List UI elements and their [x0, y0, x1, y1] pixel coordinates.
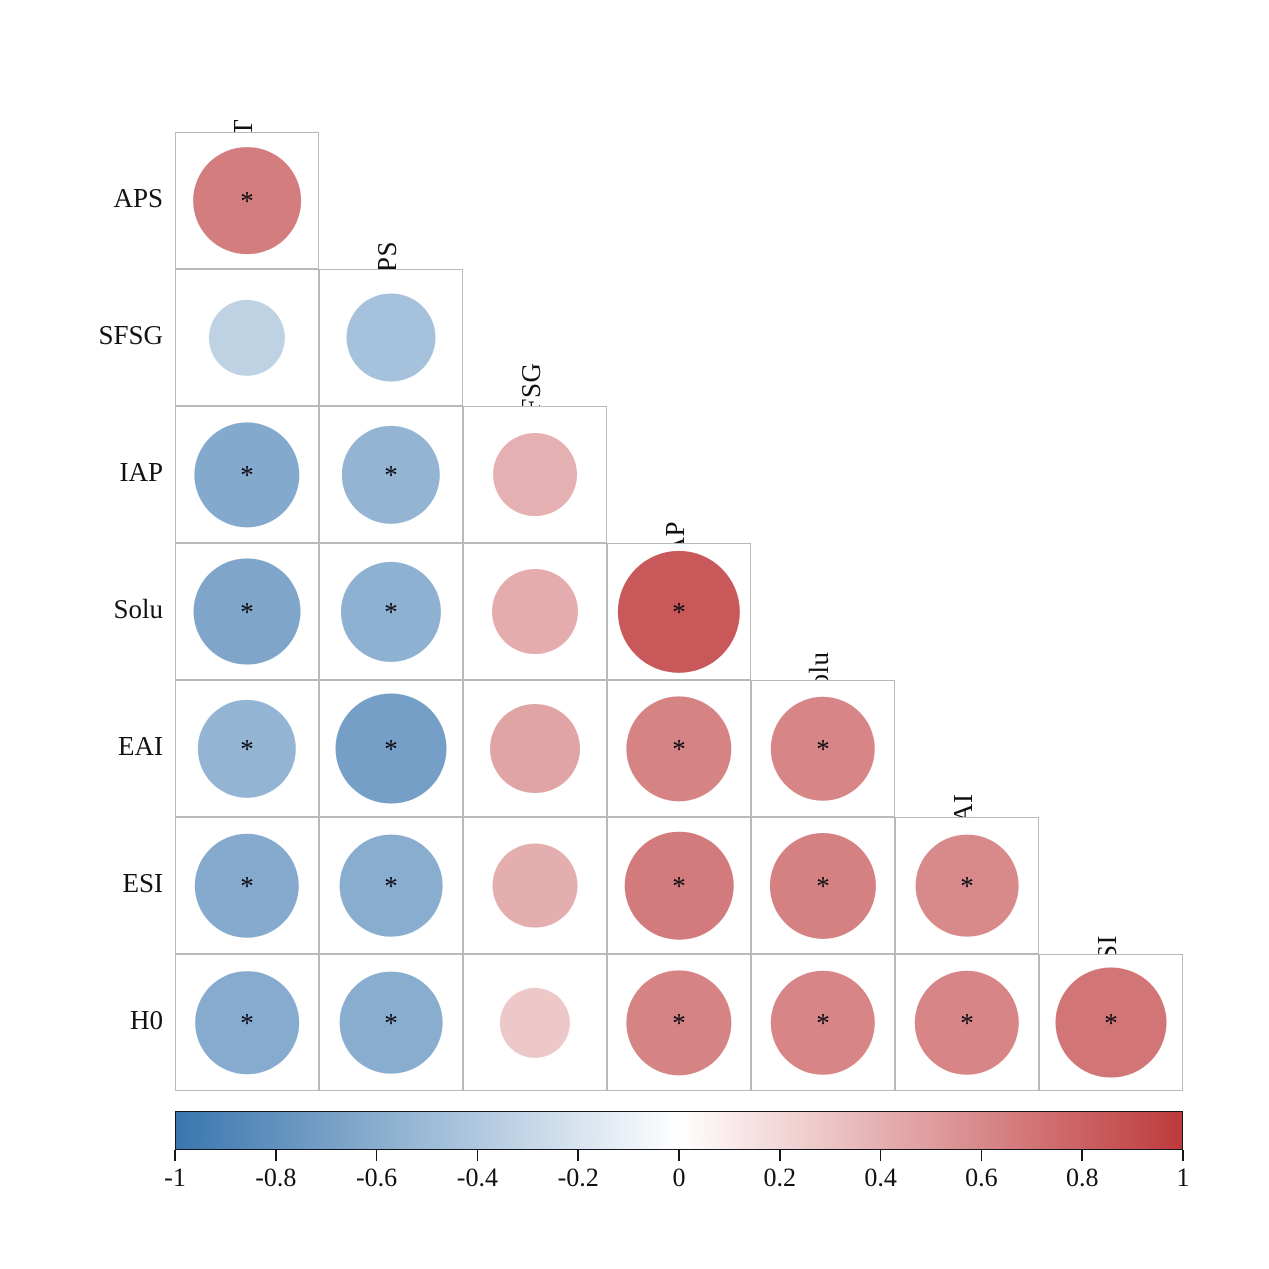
significance-star-icon: *: [240, 462, 254, 489]
colorbar-tick-label: 0.8: [1066, 1163, 1099, 1193]
colorbar-tick: [376, 1150, 378, 1161]
colorbar-tick-label: -0.8: [255, 1163, 296, 1193]
matrix-cell-solu-sfsg[interactable]: [463, 543, 607, 680]
significance-star-icon: *: [384, 599, 398, 626]
correlation-bubble: [493, 843, 578, 928]
colorbar-tick-label: 1: [1177, 1163, 1190, 1193]
significance-star-icon: *: [240, 736, 254, 763]
colorbar-tick: [1081, 1150, 1083, 1161]
significance-star-icon: *: [384, 462, 398, 489]
row-label-sfsg: SFSG: [0, 320, 163, 351]
significance-star-icon: *: [672, 599, 686, 626]
colorbar-tick: [275, 1150, 277, 1161]
matrix-row: *****: [175, 817, 1183, 954]
significance-star-icon: *: [960, 873, 974, 900]
matrix-cell-h0-eai[interactable]: *: [895, 954, 1039, 1091]
significance-star-icon: *: [240, 188, 254, 215]
significance-star-icon: *: [816, 1010, 830, 1037]
row-label-esi: ESI: [0, 868, 163, 899]
significance-star-icon: *: [672, 1010, 686, 1037]
matrix-cell-h0-aps[interactable]: *: [319, 954, 463, 1091]
correlation-bubble: [490, 704, 580, 794]
matrix-cell-eai-sfsg[interactable]: [463, 680, 607, 817]
correlation-matrix-figure: APSSFSGIAPSoluEAIESIH0 IITAPSSFSGIAPSolu…: [0, 0, 1269, 1269]
matrix-cell-sfsg-aps[interactable]: [319, 269, 463, 406]
colorbar-legend: -1-0.8-0.6-0.4-0.200.20.40.60.81: [175, 1111, 1183, 1195]
row-label-aps: APS: [0, 183, 163, 214]
matrix-cell-sfsg-iit[interactable]: [175, 269, 319, 406]
matrix-cell-esi-eai[interactable]: *: [895, 817, 1039, 954]
significance-star-icon: *: [240, 1010, 254, 1037]
matrix-row: ***: [175, 543, 1183, 680]
colorbar-tick: [1182, 1150, 1184, 1161]
matrix-cell-h0-esi[interactable]: *: [1039, 954, 1183, 1091]
matrix-cell-h0-sfsg[interactable]: [463, 954, 607, 1091]
significance-star-icon: *: [816, 736, 830, 763]
colorbar-tick-label: -0.6: [356, 1163, 397, 1193]
colorbar-tick-label: -0.2: [558, 1163, 599, 1193]
colorbar-tick-label: 0.6: [965, 1163, 998, 1193]
colorbar-tick-label: 0: [673, 1163, 686, 1193]
matrix-row: ******: [175, 954, 1183, 1091]
matrix-cell-h0-iap[interactable]: *: [607, 954, 751, 1091]
matrix-row: [175, 269, 1183, 406]
matrix-cell-solu-aps[interactable]: *: [319, 543, 463, 680]
matrix-cell-esi-iap[interactable]: *: [607, 817, 751, 954]
colorbar-gradient: [175, 1111, 1183, 1150]
matrix-cell-h0-solu[interactable]: *: [751, 954, 895, 1091]
significance-star-icon: *: [240, 599, 254, 626]
colorbar-tick: [174, 1150, 176, 1161]
colorbar-tick-label: 0.4: [864, 1163, 897, 1193]
matrix-cell-esi-solu[interactable]: *: [751, 817, 895, 954]
significance-star-icon: *: [1104, 1010, 1118, 1037]
significance-star-icon: *: [384, 736, 398, 763]
matrix-cell-eai-aps[interactable]: *: [319, 680, 463, 817]
matrix-cell-iap-sfsg[interactable]: [463, 406, 607, 543]
correlation-bubble: [209, 299, 285, 375]
colorbar-tick: [880, 1150, 882, 1161]
significance-star-icon: *: [816, 873, 830, 900]
colorbar-tick-label: -0.4: [457, 1163, 498, 1193]
matrix-cell-eai-iit[interactable]: *: [175, 680, 319, 817]
row-label-h0: H0: [0, 1005, 163, 1036]
matrix-cell-iap-iit[interactable]: *: [175, 406, 319, 543]
significance-star-icon: *: [960, 1010, 974, 1037]
matrix-row: **: [175, 406, 1183, 543]
row-label-iap: IAP: [0, 457, 163, 488]
colorbar-tick: [577, 1150, 579, 1161]
colorbar-label-group: -1-0.8-0.6-0.4-0.200.20.40.60.81: [175, 1161, 1183, 1195]
matrix-cell-h0-iit[interactable]: *: [175, 954, 319, 1091]
significance-star-icon: *: [384, 873, 398, 900]
matrix-row: *: [175, 132, 1183, 269]
matrix-row: ****: [175, 680, 1183, 817]
colorbar-tick: [981, 1150, 983, 1161]
colorbar-tick: [477, 1150, 479, 1161]
colorbar-tick-group: [175, 1150, 1183, 1161]
correlation-bubble: [493, 433, 577, 517]
significance-star-icon: *: [240, 873, 254, 900]
colorbar-tick-label: -1: [164, 1163, 186, 1193]
matrix-cell-iap-aps[interactable]: *: [319, 406, 463, 543]
significance-star-icon: *: [672, 873, 686, 900]
colorbar-tick: [678, 1150, 680, 1161]
matrix-grid: *********************: [175, 132, 1183, 1091]
matrix-cell-esi-aps[interactable]: *: [319, 817, 463, 954]
correlation-bubble: [347, 293, 436, 382]
significance-star-icon: *: [384, 1010, 398, 1037]
colorbar-tick-label: 0.2: [764, 1163, 797, 1193]
matrix-cell-esi-iit[interactable]: *: [175, 817, 319, 954]
matrix-cell-solu-iap[interactable]: *: [607, 543, 751, 680]
significance-star-icon: *: [672, 736, 686, 763]
correlation-bubble: [500, 987, 570, 1057]
correlation-bubble: [492, 569, 578, 655]
matrix-cell-esi-sfsg[interactable]: [463, 817, 607, 954]
row-label-eai: EAI: [0, 731, 163, 762]
matrix-cell-solu-iit[interactable]: *: [175, 543, 319, 680]
colorbar-tick: [779, 1150, 781, 1161]
matrix-cell-eai-solu[interactable]: *: [751, 680, 895, 817]
matrix-cell-eai-iap[interactable]: *: [607, 680, 751, 817]
row-label-solu: Solu: [0, 594, 163, 625]
matrix-cell-aps-iit[interactable]: *: [175, 132, 319, 269]
